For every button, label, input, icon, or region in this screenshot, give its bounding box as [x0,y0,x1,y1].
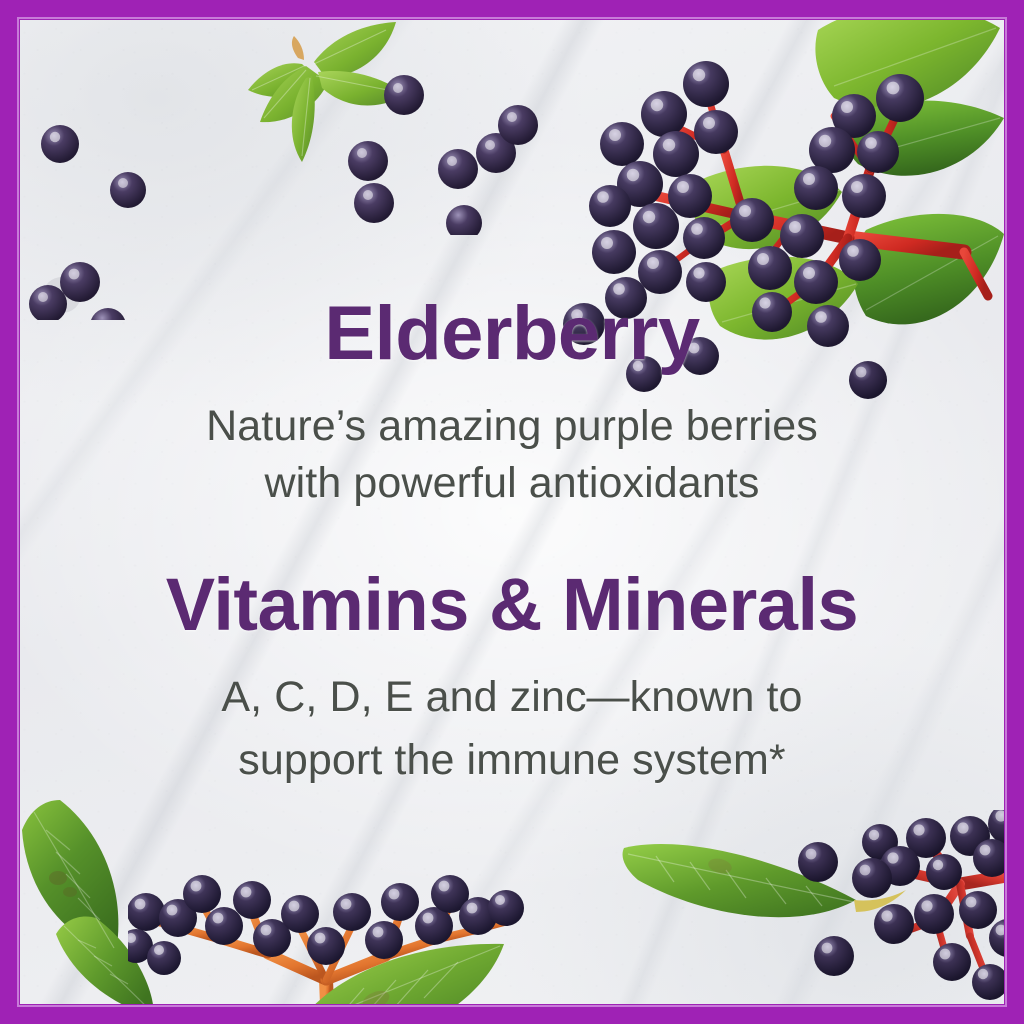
subtext-vitamins-line-2: support the immune system* [20,729,1004,791]
heading-elderberry: Elderberry [20,296,1004,372]
subtext-vitamins: A, C, D, E and zinc—known to support the… [20,666,1004,791]
subtext-elderberry-line-1: Nature’s amazing purple berries [20,398,1004,455]
heading-vitamins-minerals: Vitamins & Minerals [20,568,1004,642]
copy-block: Elderberry Nature’s amazing purple berri… [20,296,1004,791]
subtext-elderberry: Nature’s amazing purple berries with pow… [20,398,1004,512]
marble-photo-panel: Elderberry Nature’s amazing purple berri… [20,20,1004,1004]
subtext-vitamins-line-1: A, C, D, E and zinc—known to [20,666,1004,728]
poster: Elderberry Nature’s amazing purple berri… [0,0,1024,1024]
subtext-elderberry-line-2: with powerful antioxidants [20,455,1004,512]
